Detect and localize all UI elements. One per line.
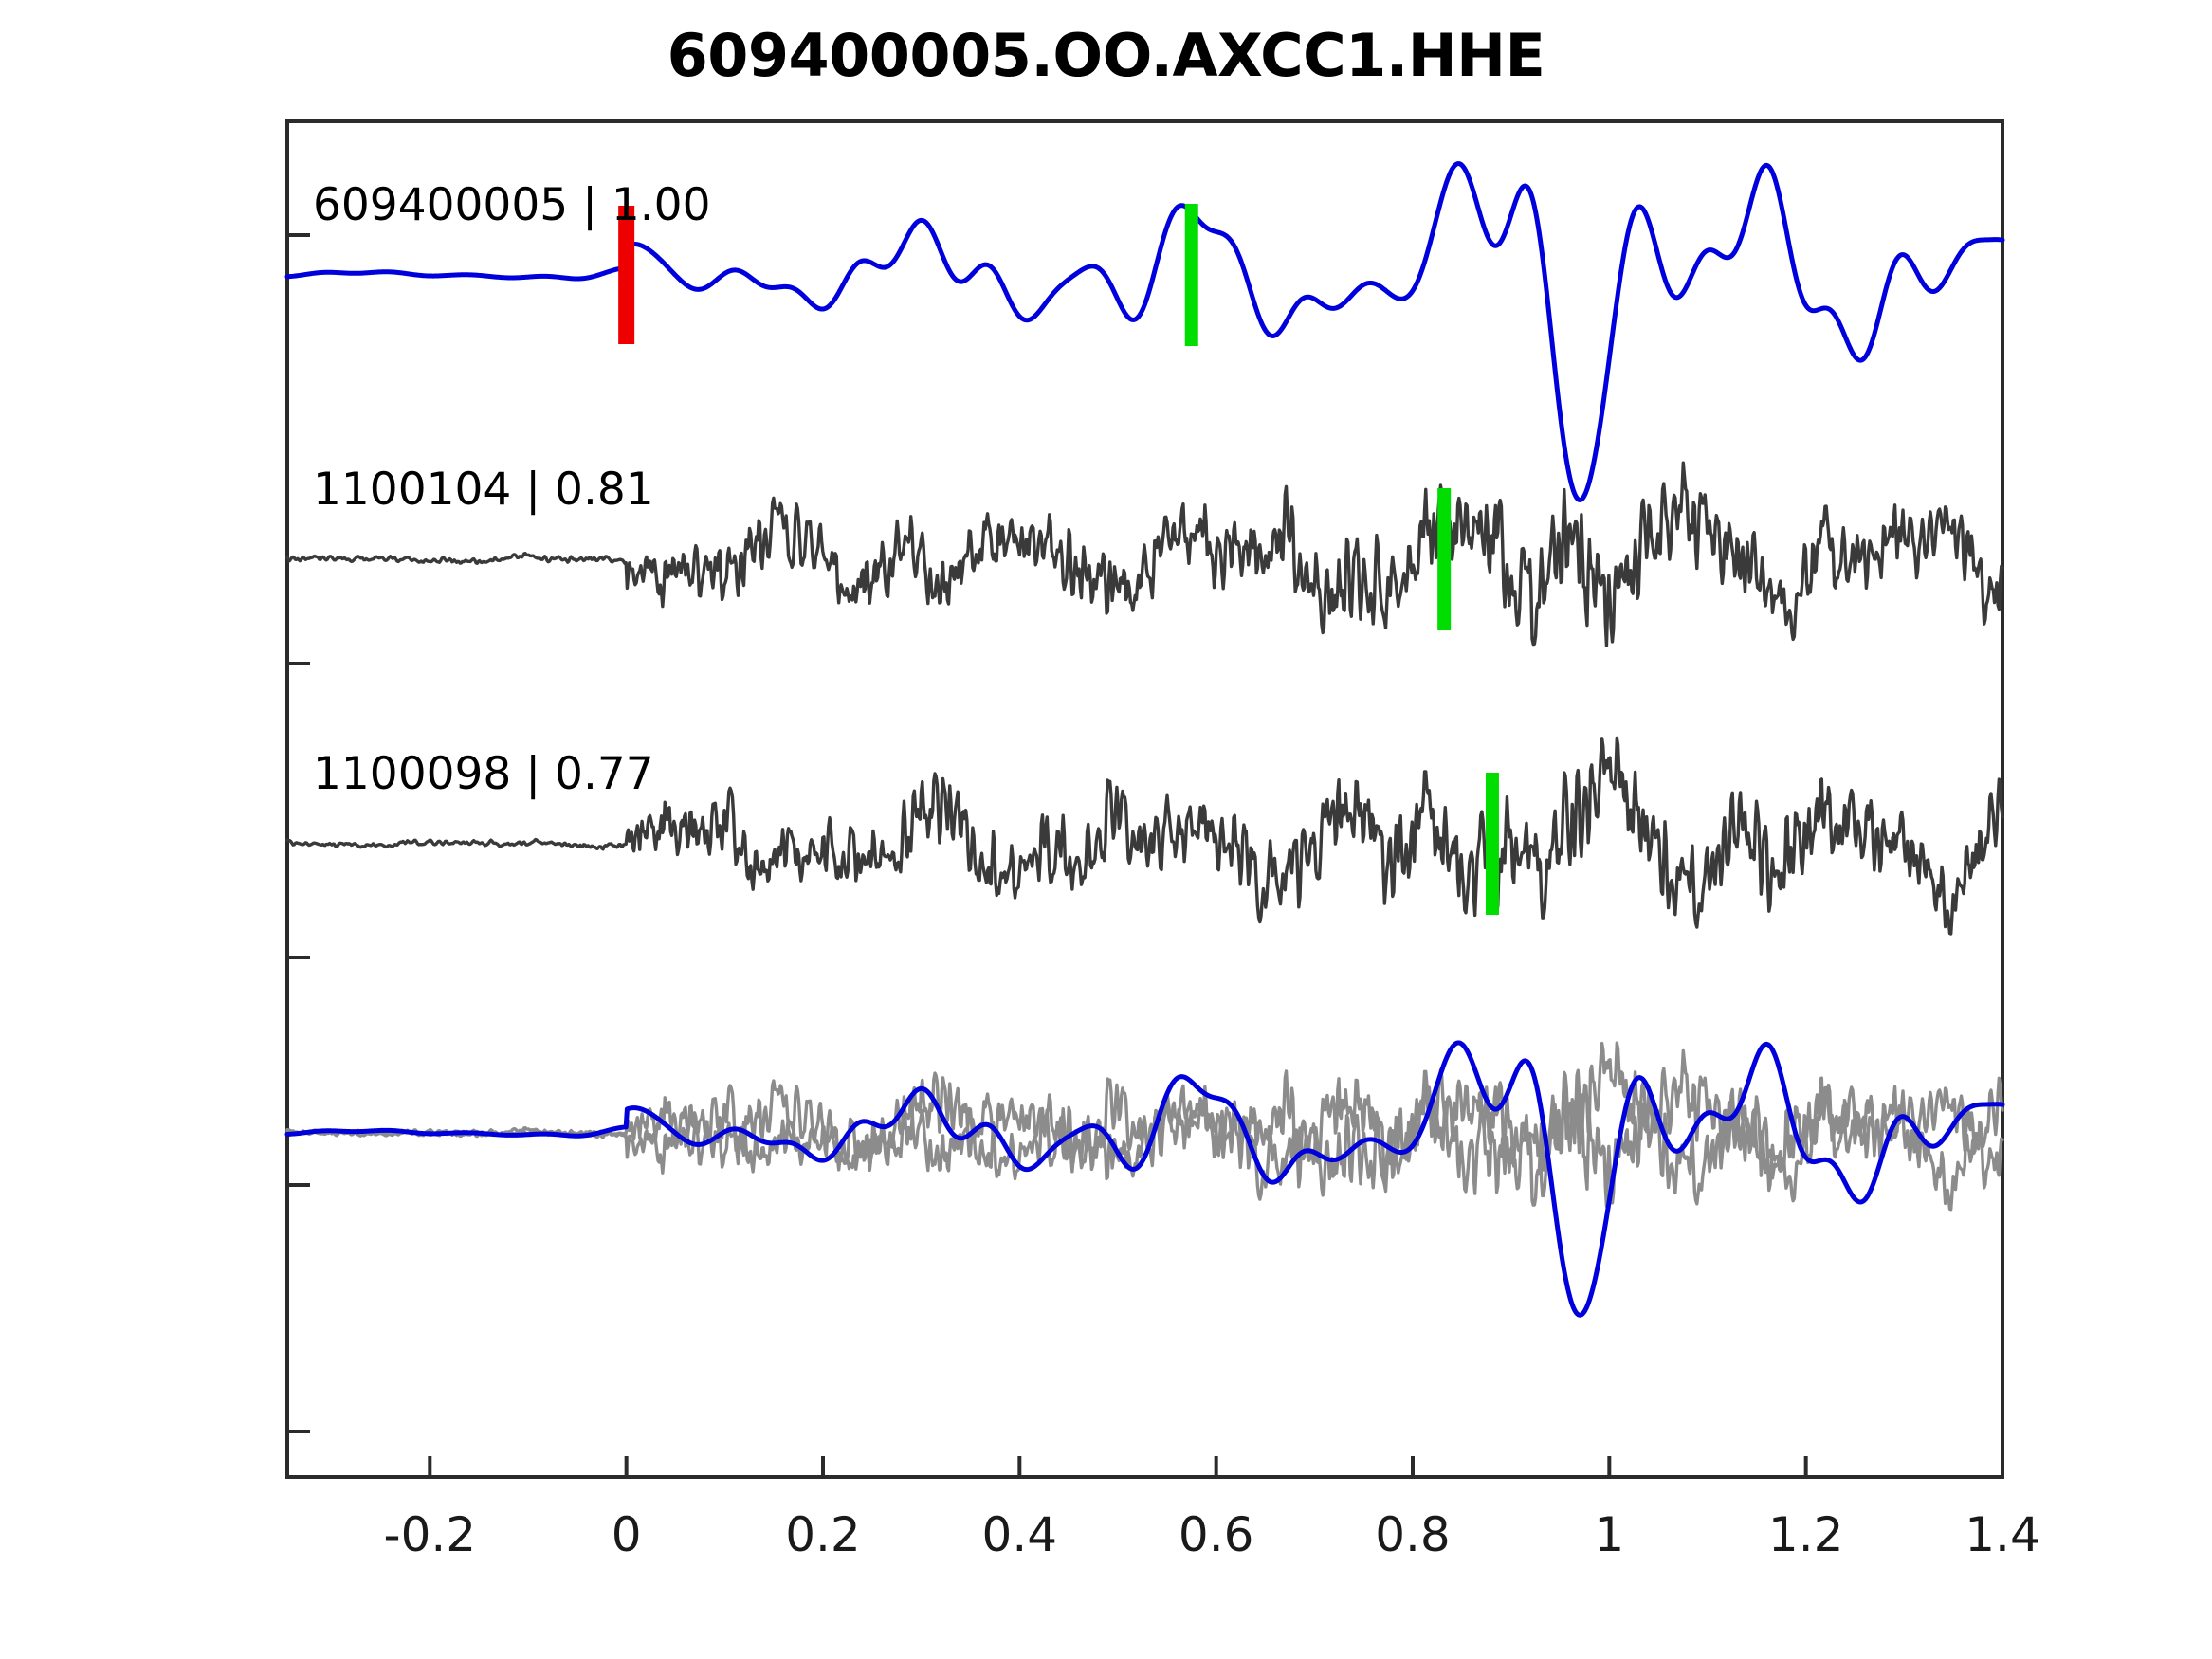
x-tick-label: 0.2 [785,1507,861,1562]
x-tick-label: 0.6 [1179,1507,1254,1562]
seismogram-figure: 609400005.OO.AXCC1.HHE 609400005 | 1.001… [0,0,2212,1659]
x-tick-label: 1.4 [1965,1507,2040,1562]
x-tick-label: 1.2 [1768,1507,1844,1562]
waveform-plot: 609400005 | 1.001100104 | 0.811100098 | … [0,0,2212,1659]
x-tick-label: 0 [612,1507,642,1562]
waveform-traces [287,164,2002,1316]
trace-label-609400005: 609400005 | 1.00 [313,179,711,231]
x-tick-label: -0.2 [384,1507,477,1562]
x-axis-ticks [430,1456,2002,1477]
overlay-trace-layer-2 [287,1043,2002,1315]
overlay-trace-layer-1 [287,1043,2002,1210]
x-tick-label: 0.4 [982,1507,1058,1562]
trace-label-1100098: 1100098 | 0.77 [313,748,654,800]
trace-label-1100104: 1100104 | 0.81 [313,464,654,516]
x-tick-label: 1 [1594,1507,1624,1562]
x-axis-tick-labels: -0.200.20.40.60.811.21.4 [384,1507,2040,1562]
y-axis-ticks [287,235,310,1431]
x-tick-label: 0.8 [1375,1507,1451,1562]
